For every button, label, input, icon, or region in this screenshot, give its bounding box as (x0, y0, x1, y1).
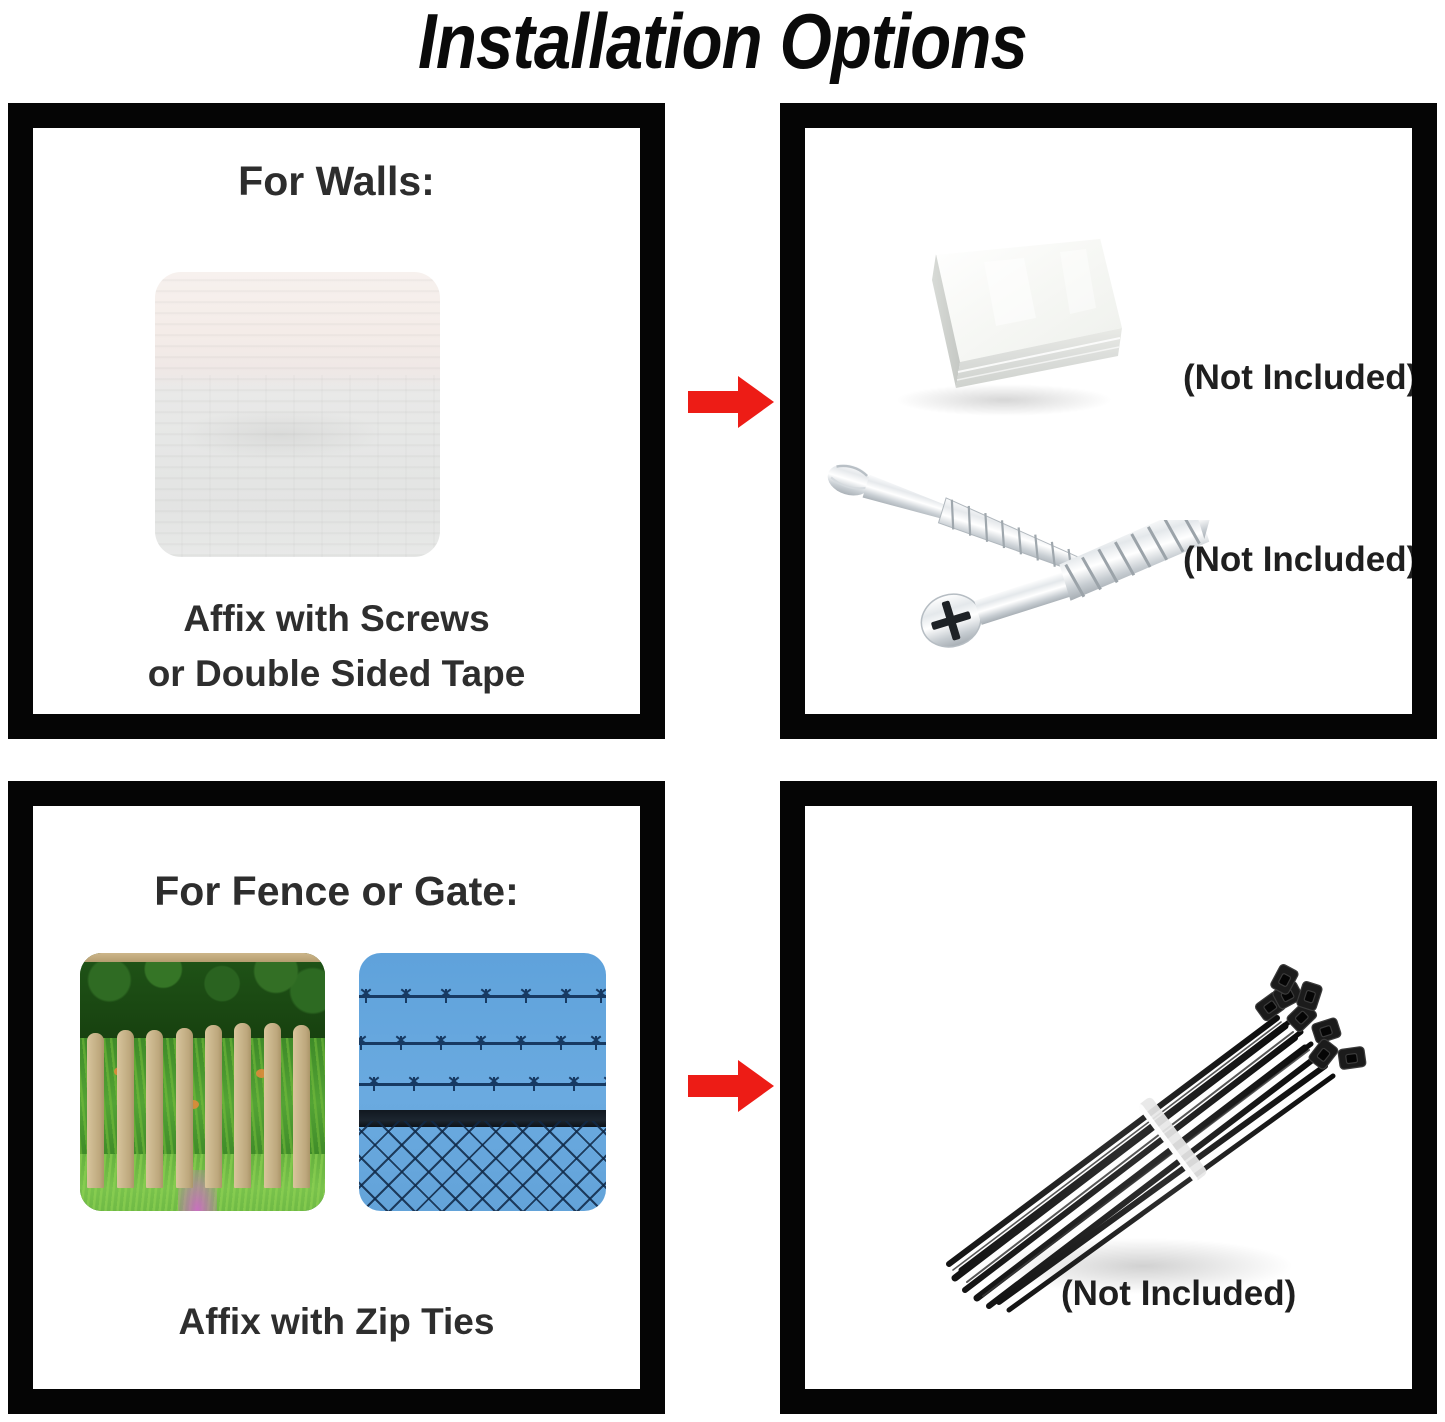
for-fence-or-gate-heading: For Fence or Gate: (33, 868, 640, 915)
walls-caption-line2: or Double Sided Tape (33, 648, 640, 701)
panel-wall-hardware: (Not Included) (780, 103, 1437, 739)
panel-for-fence-or-gate: For Fence or Gate: (8, 781, 665, 1414)
screws-not-included-label: (Not Included) (1183, 540, 1412, 580)
panel-zip-ties: (Not Included) (780, 781, 1437, 1414)
arrow-right-icon-bottom (688, 1059, 774, 1113)
walls-caption-line1: Affix with Screws (33, 593, 640, 646)
for-walls-heading: For Walls: (33, 158, 640, 205)
arrow-right-icon-top (688, 375, 774, 429)
installation-options-infographic: Installation Options For Walls: Affix wi… (0, 0, 1445, 1422)
fence-caption: Affix with Zip Ties (33, 1296, 640, 1349)
wall-surface-image (155, 272, 440, 557)
double-sided-tape-stack-image (864, 232, 1134, 422)
page-title: Installation Options (101, 0, 1344, 87)
zip-ties-not-included-label: (Not Included) (1061, 1274, 1296, 1314)
tape-not-included-label: (Not Included) (1183, 358, 1412, 398)
panel-for-walls: For Walls: Affix with Screws or Double S… (8, 103, 665, 739)
wooden-picket-fence-photo (80, 953, 325, 1211)
chain-link-fence-photo (359, 953, 606, 1211)
